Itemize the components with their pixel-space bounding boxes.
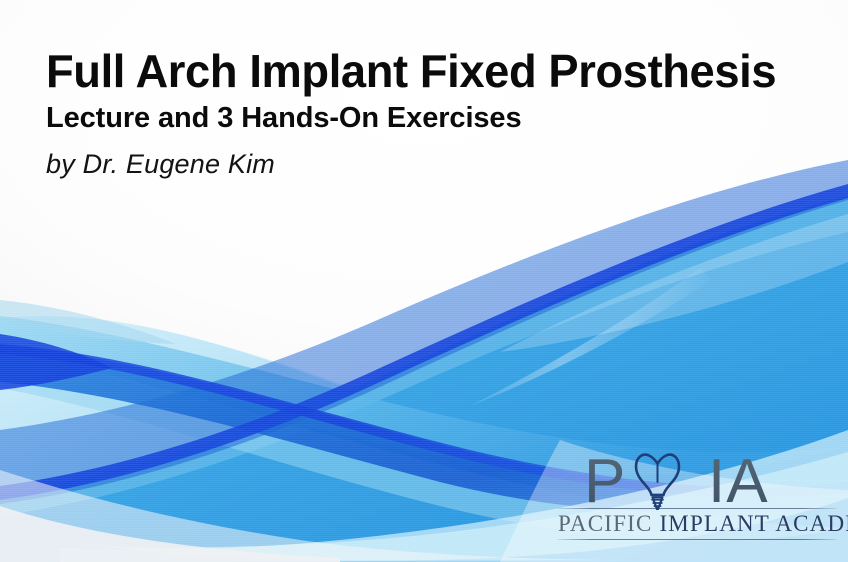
logo-wordmark: PACIFIC IMPLANT ACADEMY: [558, 509, 836, 539]
presenter-byline: by Dr. Eugene Kim: [46, 151, 787, 178]
logo-monogram: P IA: [558, 448, 836, 510]
page-subtitle: Lecture and 3 Hands-On Exercises: [46, 104, 787, 133]
logo-rule-bottom: [558, 539, 836, 540]
logo-letter-p: P: [584, 448, 625, 510]
pacific-implant-academy-logo: P IA PACIFIC IMPLANT AC: [558, 448, 836, 540]
tooth-implant-icon: [636, 455, 679, 510]
logo-wordmark-group: PACIFIC IMPLANT ACADEMY: [558, 508, 836, 540]
logo-wordmark-pacific: PACIFIC: [558, 511, 659, 536]
logo-letters-ia: IA: [708, 448, 769, 510]
logo-wordmark-implant-academy: IMPLANT ACADEMY: [659, 511, 848, 536]
page-title: Full Arch Implant Fixed Prosthesis: [46, 48, 776, 94]
headline-block: Full Arch Implant Fixed Prosthesis Lectu…: [46, 48, 787, 178]
presentation-slide: Full Arch Implant Fixed Prosthesis Lectu…: [0, 0, 848, 562]
